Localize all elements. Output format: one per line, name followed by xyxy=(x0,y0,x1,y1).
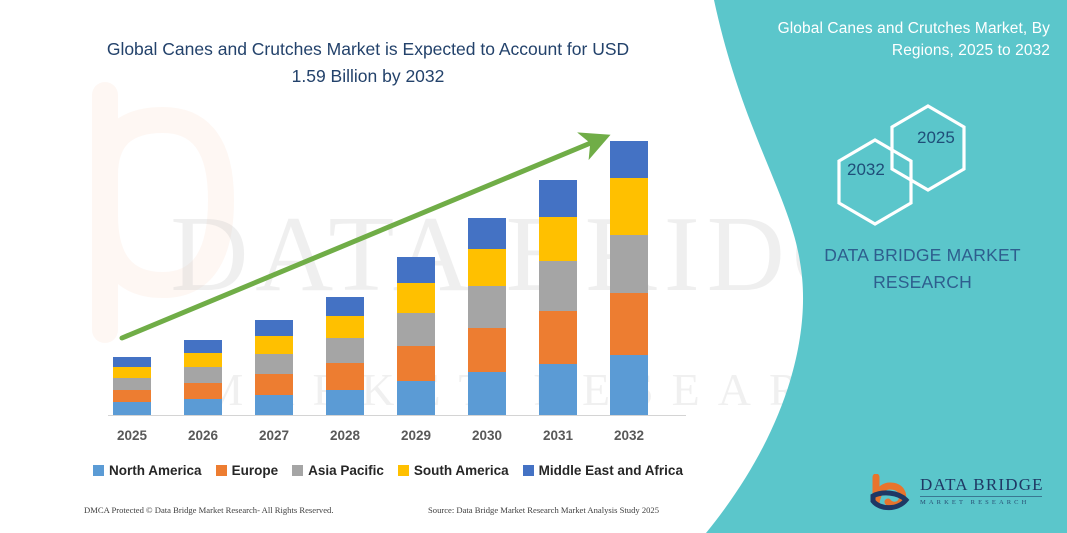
hexagon-label-2032: 2032 xyxy=(847,160,885,180)
legend-label: North America xyxy=(109,463,202,478)
bar-segment-middle-east-and-africa xyxy=(326,297,364,316)
x-axis-label-2028: 2028 xyxy=(315,428,375,443)
bar-segment-north-america xyxy=(610,355,648,415)
bar-segment-south-america xyxy=(326,316,364,338)
bar-segment-north-america xyxy=(539,364,577,415)
x-axis-line xyxy=(108,415,686,416)
bar-segment-europe xyxy=(255,374,293,395)
x-axis-labels: 20252026202720282029203020312032 xyxy=(88,428,688,450)
bar-segment-asia-pacific xyxy=(468,286,506,328)
bar-segment-europe xyxy=(397,346,435,381)
bar-segment-south-america xyxy=(397,283,435,313)
legend-label: Middle East and Africa xyxy=(539,463,683,478)
bar-segment-middle-east-and-africa xyxy=(113,357,151,367)
right-panel-title: Global Canes and Crutches Market, By Reg… xyxy=(750,18,1050,63)
x-axis-label-2027: 2027 xyxy=(244,428,304,443)
bar-segment-south-america xyxy=(468,249,506,286)
footer: DMCA Protected © Data Bridge Market Rese… xyxy=(0,505,700,525)
legend-swatch-icon xyxy=(93,465,104,476)
legend-label: Asia Pacific xyxy=(308,463,384,478)
bar-2030 xyxy=(468,218,506,415)
x-axis-label-2029: 2029 xyxy=(386,428,446,443)
brand-name-panel: DATA BRIDGE MARKET RESEARCH xyxy=(790,242,1055,296)
bar-segment-asia-pacific xyxy=(113,378,151,390)
bar-2029 xyxy=(397,257,435,415)
stacked-bar-chart xyxy=(88,120,688,420)
bar-segment-north-america xyxy=(255,395,293,415)
legend-item-middle-east-and-africa[interactable]: Middle East and Africa xyxy=(523,463,683,478)
bar-segment-middle-east-and-africa xyxy=(539,180,577,217)
bar-2025 xyxy=(113,357,151,415)
bar-segment-south-america xyxy=(255,336,293,354)
bar-segment-middle-east-and-africa xyxy=(397,257,435,283)
data-bridge-logo: DATA BRIDGE MARKET RESEARCH xyxy=(868,474,1048,518)
bar-segment-asia-pacific xyxy=(610,235,648,293)
bar-segment-north-america xyxy=(397,381,435,415)
bar-2032 xyxy=(610,141,648,415)
bar-segment-middle-east-and-africa xyxy=(610,141,648,178)
bar-segment-asia-pacific xyxy=(539,261,577,311)
footer-copyright: DMCA Protected © Data Bridge Market Rese… xyxy=(84,505,334,515)
footer-source: Source: Data Bridge Market Research Mark… xyxy=(428,505,659,515)
legend-swatch-icon xyxy=(398,465,409,476)
bar-segment-europe xyxy=(610,293,648,355)
bar-segment-europe xyxy=(539,311,577,364)
bar-segment-north-america xyxy=(468,372,506,415)
bar-2028 xyxy=(326,297,364,415)
legend-swatch-icon xyxy=(523,465,534,476)
bar-segment-asia-pacific xyxy=(326,338,364,363)
bar-segment-middle-east-and-africa xyxy=(255,320,293,336)
bar-segment-north-america xyxy=(184,399,222,415)
legend-label: Europe xyxy=(232,463,279,478)
hexagon-label-2025: 2025 xyxy=(917,128,955,148)
bar-2031 xyxy=(539,180,577,415)
x-axis-label-2031: 2031 xyxy=(528,428,588,443)
bar-segment-south-america xyxy=(610,178,648,235)
bar-segment-north-america xyxy=(113,402,151,415)
legend-label: South America xyxy=(414,463,509,478)
bar-segment-south-america xyxy=(113,367,151,378)
x-axis-label-2030: 2030 xyxy=(457,428,517,443)
bar-segment-middle-east-and-africa xyxy=(468,218,506,249)
bar-segment-south-america xyxy=(539,217,577,261)
chart-legend: North AmericaEuropeAsia PacificSouth Ame… xyxy=(88,458,688,482)
page-title: Global Canes and Crutches Market is Expe… xyxy=(88,36,648,89)
bar-segment-middle-east-and-africa xyxy=(184,340,222,353)
bar-segment-asia-pacific xyxy=(397,313,435,346)
legend-item-europe[interactable]: Europe xyxy=(216,463,279,478)
legend-swatch-icon xyxy=(216,465,227,476)
hexagon-badges: 2025 2032 xyxy=(820,98,1000,210)
bar-segment-europe xyxy=(113,390,151,402)
logo-divider xyxy=(920,496,1042,497)
bar-segment-europe xyxy=(468,328,506,372)
x-axis-label-2025: 2025 xyxy=(102,428,162,443)
infographic-root: DATA BRIDGE MARKET RESEARCH Global Canes… xyxy=(0,0,1067,533)
bar-2027 xyxy=(255,320,293,415)
logo-mark-icon xyxy=(868,474,916,516)
growth-trend-arrow-icon xyxy=(88,120,688,420)
bar-segment-asia-pacific xyxy=(255,354,293,374)
bar-segment-north-america xyxy=(326,390,364,415)
bar-segment-europe xyxy=(184,383,222,399)
bar-segment-europe xyxy=(326,363,364,390)
logo-subtitle: MARKET RESEARCH xyxy=(920,499,1044,506)
legend-swatch-icon xyxy=(292,465,303,476)
x-axis-label-2032: 2032 xyxy=(599,428,659,443)
x-axis-label-2026: 2026 xyxy=(173,428,233,443)
legend-item-south-america[interactable]: South America xyxy=(398,463,509,478)
legend-item-asia-pacific[interactable]: Asia Pacific xyxy=(292,463,384,478)
bar-segment-south-america xyxy=(184,353,222,367)
bar-segment-asia-pacific xyxy=(184,367,222,383)
bar-2026 xyxy=(184,340,222,415)
legend-item-north-america[interactable]: North America xyxy=(93,463,202,478)
logo-name: DATA BRIDGE xyxy=(920,475,1044,495)
